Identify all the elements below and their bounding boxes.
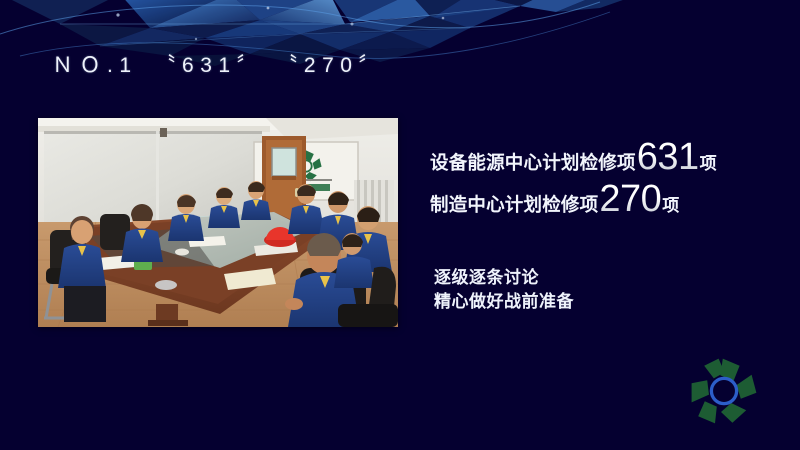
meeting-photo (38, 118, 398, 327)
stat-number-equipment: 631 (636, 136, 700, 178)
stat-number-manufacturing: 270 (598, 178, 662, 220)
note-line-2: 精心做好战前准备 (434, 290, 574, 314)
stat-unit-equipment: 项 (700, 154, 717, 173)
meeting-photo-svg (38, 118, 398, 327)
slide-title: ＮＯ.1 〝631〞 〝270〞 (52, 52, 386, 80)
stat-label-manufacturing: 制造中心计划检修项 (430, 194, 598, 215)
note-line-1: 逐级逐条讨论 (434, 266, 574, 290)
stat-line-equipment: 设备能源中心计划检修项631项 (430, 136, 717, 179)
notes-block: 逐级逐条讨论 精心做好战前准备 (434, 266, 574, 314)
stat-label-equipment: 设备能源中心计划检修项 (430, 152, 636, 173)
stat-line-manufacturing: 制造中心计划检修项270项 (430, 178, 679, 221)
stat-unit-manufacturing: 项 (662, 196, 679, 215)
presentation-slide: ＮＯ.1 〝631〞 〝270〞 (0, 0, 800, 450)
aperture-logo (688, 355, 760, 427)
aperture-logo-svg (688, 355, 760, 427)
